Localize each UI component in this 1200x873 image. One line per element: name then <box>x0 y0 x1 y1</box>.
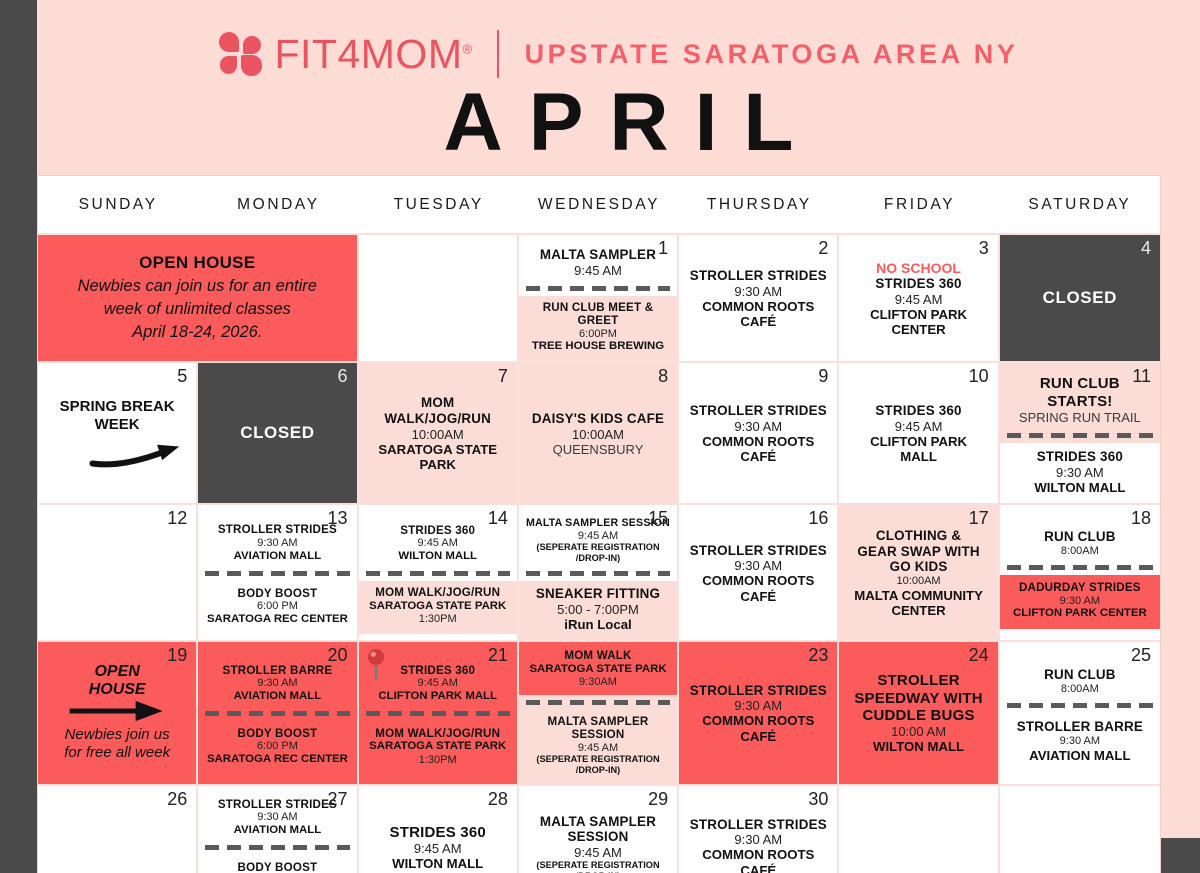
event-text: CLOTHING & <box>846 528 990 544</box>
day-cell-9[interactable]: 9STROLLER STRIDES9:30 AMCOMMON ROOTSCAFÉ <box>679 363 839 503</box>
weekday-header-row: SUNDAYMONDAYTUESDAYWEDNESDAYTHURSDAYFRID… <box>38 176 1160 233</box>
day-number: 28 <box>488 790 508 810</box>
event-text: 9:30 AM <box>686 698 830 713</box>
event-text: SARATOGA STATE <box>366 442 510 457</box>
spring-break-label: SPRING BREAKWEEK <box>60 398 175 434</box>
event-text: MALTA SAMPLER SESSION <box>524 715 672 742</box>
event-text: COMMON ROOTS <box>686 299 830 314</box>
event-text: STROLLER STRIDES <box>686 683 830 699</box>
event-block[interactable]: MALTA SAMPLER9:45 AM <box>524 244 672 281</box>
event-text: AVIATION MALL <box>1005 748 1155 763</box>
day-number: 10 <box>969 367 989 387</box>
event-text: 10:00 AM <box>846 724 990 739</box>
day-cell-27[interactable]: 27STROLLER STRIDES9:30 AMAVIATION MALLBO… <box>198 786 358 873</box>
day-cell-body: MOMWALK/JOG/RUN10:00AMSARATOGA STATEPARK <box>359 363 517 503</box>
map-pin-icon <box>365 648 387 682</box>
event-text: DADURDAY STRIDES <box>1005 581 1155 594</box>
day-cell-body: STROLLER STRIDES9:30 AMCOMMON ROOTSCAFÉ <box>679 363 837 503</box>
spring-break-content: SPRING BREAKWEEK <box>38 363 196 503</box>
event-block[interactable]: RUN CLUB8:00AM <box>1005 526 1155 560</box>
event-separator <box>1007 565 1153 570</box>
calendar-grid: SUNDAYMONDAYTUESDAYWEDNESDAYTHURSDAYFRID… <box>37 175 1161 873</box>
event-text: STRIDES 360 <box>846 276 990 292</box>
event-text: /DROP-IN) <box>524 765 672 776</box>
event-text: NO SCHOOL <box>846 260 990 276</box>
event-block[interactable]: MALTA SAMPLERSESSION9:45 AM(SEPERATE REG… <box>524 811 672 873</box>
day-cell-18[interactable]: 18RUN CLUB8:00AMDADURDAY STRIDES9:30 AMC… <box>1000 505 1160 640</box>
event-text: CENTER <box>846 322 990 337</box>
open-house-week-cell[interactable]: 19OPENHOUSENewbies join usfor free all w… <box>38 642 198 783</box>
event-text: CENTER <box>846 603 990 618</box>
closed-day-cell-6[interactable]: 6CLOSED <box>198 363 358 503</box>
weekday-header-sunday: SUNDAY <box>38 176 198 233</box>
day-number: 13 <box>328 509 348 529</box>
day-number: 26 <box>167 790 187 810</box>
event-text: SESSION <box>526 829 670 845</box>
event-text: SARATOGA STATE PARK <box>524 663 672 676</box>
day-cell-empty[interactable] <box>1000 786 1160 873</box>
brand-wordmark-text: FIT4MOM <box>275 31 463 77</box>
event-text: (SEPERATE REGISTRATION <box>526 542 670 553</box>
day-cell-17[interactable]: 17CLOTHING &GEAR SWAP WITHGO KIDS10:00AM… <box>839 505 999 640</box>
day-cell-29[interactable]: 29MALTA SAMPLERSESSION9:45 AM(SEPERATE R… <box>519 786 679 873</box>
event-text: 9:45 AM <box>526 845 670 860</box>
event-text: 9:30 AM <box>1005 595 1155 608</box>
event-text: SNEAKER FITTING <box>524 586 672 602</box>
event-separator <box>526 286 670 291</box>
day-number: 5 <box>177 367 187 387</box>
event-block[interactable]: STROLLER BARRE9:30 AMAVIATION MALL <box>203 661 351 706</box>
day-number: 24 <box>969 646 989 666</box>
calendar-week-row: OPEN HOUSENewbies can join us for an ent… <box>38 233 1160 361</box>
event-text: AVIATION MALL <box>205 690 349 703</box>
event-text: 9:45 AM <box>524 742 672 755</box>
event-text: 9:30 AM <box>686 832 830 847</box>
event-text: BODY BOOST <box>203 861 351 873</box>
event-block[interactable]: STRIDES 3609:45 AMWILTON MALL <box>364 821 512 873</box>
event-separator <box>1007 703 1153 708</box>
event-text: 9:30 AM <box>1005 735 1155 748</box>
event-text: (SEPERATE REGISTRATION <box>526 860 670 871</box>
day-number: 18 <box>1131 509 1151 529</box>
event-text: CAFÉ <box>686 589 830 604</box>
event-text: AVIATION MALL <box>205 550 349 563</box>
weekday-header-saturday: SATURDAY <box>1000 176 1160 233</box>
event-text: 5:00 - 7:00PM <box>524 602 672 617</box>
event-text: SARATOGA REC CENTER <box>203 753 351 766</box>
open-house-title: OPENHOUSE <box>89 663 146 700</box>
event-separator <box>205 711 349 716</box>
location-name: UPSTATE SARATOGA AREA NY <box>525 39 1019 70</box>
day-number: 12 <box>167 509 187 529</box>
event-separator <box>526 700 670 705</box>
day-cell-26[interactable]: 26 <box>38 786 198 873</box>
event-text: MALL <box>846 449 990 464</box>
registered-mark: ® <box>462 41 472 56</box>
event-text: 6:00PM <box>524 328 672 341</box>
event-separator <box>205 571 349 576</box>
event-text: STRIDES 360 <box>846 403 990 419</box>
event-text: STRIDES 360 <box>1005 449 1155 465</box>
event-block[interactable]: STRIDES 3609:30 AMWILTON MALL <box>1000 443 1160 503</box>
event-text: STROLLER STRIDES <box>686 817 830 833</box>
event-block[interactable]: SNEAKER FITTING5:00 - 7:00PMiRun Local <box>519 581 677 640</box>
event-text: BODY BOOST <box>203 727 351 740</box>
event-text: 9:30 AM <box>1005 465 1155 480</box>
event-text: MOM WALK/JOG/RUN <box>364 727 512 740</box>
day-number: 7 <box>498 367 508 387</box>
event-text: WILTON MALL <box>1005 480 1155 495</box>
day-number: 27 <box>328 790 348 810</box>
day-cell-2[interactable]: 2STROLLER STRIDES9:30 AMCOMMON ROOTSCAFÉ <box>679 235 839 361</box>
open-house-promo-cell[interactable]: OPEN HOUSENewbies can join us for an ent… <box>38 235 359 361</box>
day-cell-13[interactable]: 13STROLLER STRIDES9:30 AMAVIATION MALLBO… <box>198 505 358 640</box>
weekday-header-friday: FRIDAY <box>839 176 999 233</box>
event-text: TREE HOUSE BREWING <box>524 340 672 353</box>
event-text: RUN CLUB <box>1007 375 1153 392</box>
day-number: 20 <box>328 646 348 666</box>
event-text: RUN CLUB <box>1007 529 1153 545</box>
event-text: CAFÉ <box>686 729 830 744</box>
event-text: GEAR SWAP WITH <box>846 544 990 560</box>
weekday-header-monday: MONDAY <box>198 176 358 233</box>
closed-label: CLOSED <box>1000 235 1160 361</box>
day-number: 23 <box>808 646 828 666</box>
day-number: 19 <box>167 646 187 666</box>
event-text: CAFÉ <box>686 449 830 464</box>
day-number: 11 <box>1132 367 1151 387</box>
day-cell-body: MALTA SAMPLER9:45 AMRUN CLUB MEET & GREE… <box>519 235 677 361</box>
day-cell-12[interactable]: 12 <box>38 505 198 640</box>
open-house-subtitle: Newbies join usfor free all week <box>64 726 170 764</box>
day-cell-empty[interactable] <box>359 235 519 361</box>
event-text: 9:30AM <box>524 676 672 689</box>
event-text: CLIFTON PARK <box>846 307 990 322</box>
event-block[interactable]: BODY BOOST6:00 PMSARATOGA REC CENTER <box>198 721 356 774</box>
event-text: 9:45 AM <box>366 677 510 690</box>
event-text: 6:00 PM <box>203 600 351 613</box>
event-text: 9:45 AM <box>846 419 990 434</box>
day-cell-15[interactable]: 15MALTA SAMPLER SESSION9:45 AM(SEPERATE … <box>519 505 679 640</box>
event-text: 1:30PM <box>364 613 512 626</box>
day-cell-7[interactable]: 7MOMWALK/JOG/RUN10:00AMSARATOGA STATEPAR… <box>359 363 519 503</box>
event-text: STRIDES 360 <box>366 824 510 841</box>
weekday-header-thursday: THURSDAY <box>679 176 839 233</box>
day-cell-24[interactable]: 24STROLLERSPEEDWAY WITHCUDDLE BUGS10:00 … <box>839 642 999 783</box>
day-number: 15 <box>648 509 668 529</box>
day-number: 30 <box>808 790 828 810</box>
event-text: CAFÉ <box>686 314 830 329</box>
weekday-header-tuesday: TUESDAY <box>359 176 519 233</box>
event-block[interactable]: STROLLER STRIDES9:30 AMCOMMON ROOTSCAFÉ <box>684 265 832 332</box>
event-text: iRun Local <box>524 617 672 632</box>
event-text: MALTA SAMPLER <box>526 814 670 830</box>
weekday-header-wednesday: WEDNESDAY <box>519 176 679 233</box>
event-block[interactable]: MALTA SAMPLER SESSION9:45 AM(SEPERATE RE… <box>519 710 677 784</box>
event-text: BODY BOOST <box>203 587 351 600</box>
event-block[interactable]: STROLLER BARRE9:30 AMAVIATION MALL <box>1000 713 1160 771</box>
event-text: 10:00AM <box>846 575 990 588</box>
event-block[interactable]: BODY BOOST6:00 PMSARATOGA REC CENTER <box>198 855 356 873</box>
event-text: 9:30 AM <box>205 537 349 550</box>
event-text: WILTON MALL <box>366 550 510 563</box>
event-text: PARK <box>366 457 510 472</box>
slide-header: FIT4MOM® UPSTATE SARATOGA AREA NY APRIL <box>37 0 1200 175</box>
event-text: SARATOGA STATE PARK <box>364 600 512 613</box>
event-text: 10:00AM <box>366 427 510 442</box>
calendar-week-row: 5SPRING BREAKWEEK6CLOSED7MOMWALK/JOG/RUN… <box>38 361 1160 503</box>
event-text: STROLLER <box>846 672 990 689</box>
closed-label: CLOSED <box>198 363 356 503</box>
event-text: STROLLER STRIDES <box>686 268 830 284</box>
brand-wordmark: FIT4MOM® <box>275 34 473 75</box>
event-block[interactable]: MOM WALK/JOG/RUNSARATOGA STATE PARK1:30P… <box>359 721 517 774</box>
event-text: 9:45 AM <box>366 841 510 856</box>
day-number: 16 <box>808 509 828 529</box>
event-text: 9:45 AM <box>366 537 510 550</box>
event-text: 6:00 PM <box>203 740 351 753</box>
event-text: 8:00AM <box>1007 545 1153 558</box>
day-cell-3[interactable]: 3NO SCHOOLSTRIDES 3609:45 AMCLIFTON PARK… <box>839 235 999 361</box>
event-separator <box>1007 433 1153 438</box>
promo-lines: Newbies can join us for an entireweek of… <box>78 275 317 343</box>
event-block[interactable]: STROLLER STRIDES9:30 AMCOMMON ROOTSCAFÉ <box>684 540 832 607</box>
event-text: 8:00AM <box>1007 683 1153 696</box>
event-text: MOM WALK/JOG/RUN <box>364 586 512 599</box>
day-number: 6 <box>338 367 348 387</box>
event-block[interactable]: CLOTHING &GEAR SWAP WITHGO KIDS10:00AMMA… <box>844 525 992 621</box>
day-cell-body: NO SCHOOLSTRIDES 3609:45 AMCLIFTON PARKC… <box>839 235 997 361</box>
event-text: GO KIDS <box>846 559 990 575</box>
day-cell-14[interactable]: 14STRIDES 3609:45 AMWILTON MALLMOM WALK/… <box>359 505 519 640</box>
day-cell-20[interactable]: 20STROLLER BARRE9:30 AMAVIATION MALLBODY… <box>198 642 358 783</box>
event-text: 9:45 AM <box>526 263 670 278</box>
event-text: 9:30 AM <box>205 811 349 824</box>
day-cell-1[interactable]: 1MALTA SAMPLER9:45 AMRUN CLUB MEET & GRE… <box>519 235 679 361</box>
day-cell-11[interactable]: 11RUN CLUBSTARTS!SPRING RUN TRAILSTRIDES… <box>1000 363 1160 503</box>
closed-day-cell-4[interactable]: 4CLOSED <box>1000 235 1160 361</box>
day-cell-25[interactable]: 25RUN CLUB8:00AMSTROLLER BARRE9:30 AMAVI… <box>1000 642 1160 783</box>
event-text: SPRING RUN TRAIL <box>1007 410 1153 425</box>
event-block[interactable]: RUN CLUB8:00AM <box>1005 664 1155 698</box>
day-cell-28[interactable]: 28STRIDES 3609:45 AMWILTON MALL <box>359 786 519 873</box>
day-cell-16[interactable]: 16STROLLER STRIDES9:30 AMCOMMON ROOTSCAF… <box>679 505 839 640</box>
day-cell-empty[interactable]: MOM WALKSARATOGA STATE PARK9:30AMMALTA S… <box>519 642 679 783</box>
event-text: AVIATION MALL <box>205 824 349 837</box>
promo-content: OPEN HOUSENewbies can join us for an ent… <box>38 235 357 361</box>
event-text: RUN CLUB <box>1007 667 1153 683</box>
event-block[interactable]: BODY BOOST6:00 PMSARATOGA REC CENTER <box>198 581 356 634</box>
event-text: MALTA COMMUNITY <box>846 588 990 603</box>
event-block[interactable]: DAISY'S KIDS CAFE10:00AMQUEENSBURY <box>524 408 672 460</box>
calendar-week-row: 19OPENHOUSENewbies join usfor free all w… <box>38 640 1160 783</box>
event-text: STROLLER STRIDES <box>686 403 830 419</box>
day-cell-body: DAISY'S KIDS CAFE10:00AMQUEENSBURY <box>519 363 677 503</box>
event-text: CAFÉ <box>686 863 830 873</box>
event-text: CLIFTON PARK <box>846 434 990 449</box>
brand-bar: FIT4MOM® UPSTATE SARATOGA AREA NY <box>37 24 1200 84</box>
calendar-week-row: 2627STROLLER STRIDES9:30 AMAVIATION MALL… <box>38 784 1160 873</box>
event-text: STROLLER BARRE <box>1005 719 1155 735</box>
event-text: WILTON MALL <box>846 739 990 754</box>
event-block[interactable]: STROLLER STRIDES9:30 AMCOMMON ROOTSCAFÉ <box>684 400 832 467</box>
calendar-week-row: 1213STROLLER STRIDES9:30 AMAVIATION MALL… <box>38 503 1160 640</box>
day-cell-10[interactable]: 10STRIDES 3609:45 AMCLIFTON PARKMALL <box>839 363 999 503</box>
event-text: DAISY'S KIDS CAFE <box>526 411 670 427</box>
promo-title: OPEN HOUSE <box>139 253 255 273</box>
day-number: 29 <box>648 790 668 810</box>
event-text: (SEPERATE REGISTRATION <box>524 754 672 765</box>
event-text: WILTON MALL <box>366 856 510 871</box>
event-text: 10:00AM <box>526 427 670 442</box>
day-number: 9 <box>818 367 828 387</box>
event-text: SPEEDWAY WITH <box>846 690 990 707</box>
event-separator <box>526 571 670 576</box>
day-number: 17 <box>969 509 989 529</box>
event-text: MALTA SAMPLER <box>526 247 670 263</box>
day-number: 14 <box>488 509 508 529</box>
event-text: 9:30 AM <box>686 284 830 299</box>
event-text: 9:45 AM <box>846 292 990 307</box>
day-number: 21 <box>488 646 508 666</box>
event-text: CLIFTON PARK MALL <box>366 690 510 703</box>
calendar-slide: FIT4MOM® UPSTATE SARATOGA AREA NY APRIL … <box>0 0 1200 873</box>
day-cell-empty[interactable] <box>839 786 999 873</box>
header-divider <box>497 30 499 78</box>
day-number: 2 <box>818 239 828 259</box>
spring-break-cell[interactable]: 5SPRING BREAKWEEK <box>38 363 198 503</box>
event-text: /DROP-IN) <box>526 553 670 564</box>
event-text: COMMON ROOTS <box>686 847 830 862</box>
day-cell-30[interactable]: 30STROLLER STRIDES9:30 AMCOMMON ROOTSCAF… <box>679 786 839 873</box>
event-separator <box>366 571 510 576</box>
event-block[interactable]: STROLLER STRIDES9:30 AMCOMMON ROOTSCAFÉ <box>684 680 832 747</box>
event-block[interactable]: MOMWALK/JOG/RUN10:00AMSARATOGA STATEPARK <box>364 392 512 475</box>
event-block[interactable]: NO SCHOOLSTRIDES 3609:45 AMCLIFTON PARKC… <box>844 257 992 340</box>
day-number: 3 <box>979 239 989 259</box>
day-cell-body: MOM WALKSARATOGA STATE PARK9:30AMMALTA S… <box>519 642 677 783</box>
event-text: STROLLER STRIDES <box>686 543 830 559</box>
event-text: 9:45 AM <box>526 530 670 543</box>
event-text: RUN CLUB MEET & GREET <box>524 301 672 328</box>
event-block[interactable]: STROLLERSPEEDWAY WITHCUDDLE BUGS10:00 AM… <box>844 669 992 758</box>
curved-arrow-icon <box>85 438 190 472</box>
event-separator <box>366 711 510 716</box>
event-block[interactable]: MOM WALK/JOG/RUNSARATOGA STATE PARK1:30P… <box>359 581 517 633</box>
event-text: COMMON ROOTS <box>686 573 830 588</box>
day-cell-body: STROLLER STRIDES9:30 AMCOMMON ROOTSCAFÉ <box>679 235 837 361</box>
event-block[interactable]: RUN CLUB MEET & GREET6:00PMTREE HOUSE BR… <box>519 296 677 362</box>
event-text: COMMON ROOTS <box>686 434 830 449</box>
fit4mom-flower-logo-icon <box>219 32 263 76</box>
event-block[interactable]: DADURDAY STRIDES9:30 AMCLIFTON PARK CENT… <box>1000 575 1160 628</box>
event-text: STARTS! <box>1007 393 1153 410</box>
event-text: 9:30 AM <box>205 677 349 690</box>
day-number: 1 <box>658 239 668 259</box>
event-text: COMMON ROOTS <box>686 713 830 728</box>
event-separator <box>205 845 349 850</box>
day-number: 8 <box>658 367 668 387</box>
event-text: SARATOGA STATE PARK <box>364 740 512 753</box>
day-number: 4 <box>1141 239 1151 259</box>
event-text: MOM <box>366 395 510 411</box>
event-text: CUDDLE BUGS <box>846 707 990 724</box>
event-text: SARATOGA REC CENTER <box>203 613 351 626</box>
event-text: 9:30 AM <box>686 558 830 573</box>
event-text: CLIFTON PARK CENTER <box>1005 607 1155 620</box>
event-block[interactable]: STRIDES 3609:45 AMCLIFTON PARKMALL <box>844 400 992 467</box>
event-block[interactable]: STROLLER STRIDES9:30 AMCOMMON ROOTSCAFÉ <box>684 814 832 873</box>
day-cell-23[interactable]: 23STROLLER STRIDES9:30 AMCOMMON ROOTSCAF… <box>679 642 839 783</box>
day-cell-8[interactable]: 8DAISY'S KIDS CAFE10:00AMQUEENSBURY <box>519 363 679 503</box>
right-arrow-icon <box>58 700 176 722</box>
event-block[interactable]: MOM WALKSARATOGA STATE PARK9:30AM <box>519 642 677 694</box>
event-text: QUEENSBURY <box>526 442 670 457</box>
event-text: MOM WALK <box>524 649 672 662</box>
event-text: WALK/JOG/RUN <box>366 411 510 427</box>
month-title: APRIL <box>37 80 1200 166</box>
event-text: 9:30 AM <box>686 419 830 434</box>
day-number: 25 <box>1131 646 1151 666</box>
day-cell-21[interactable]: 21STRIDES 3609:45 AMCLIFTON PARK MALLMOM… <box>359 642 519 783</box>
event-text: 1:30PM <box>364 754 512 767</box>
